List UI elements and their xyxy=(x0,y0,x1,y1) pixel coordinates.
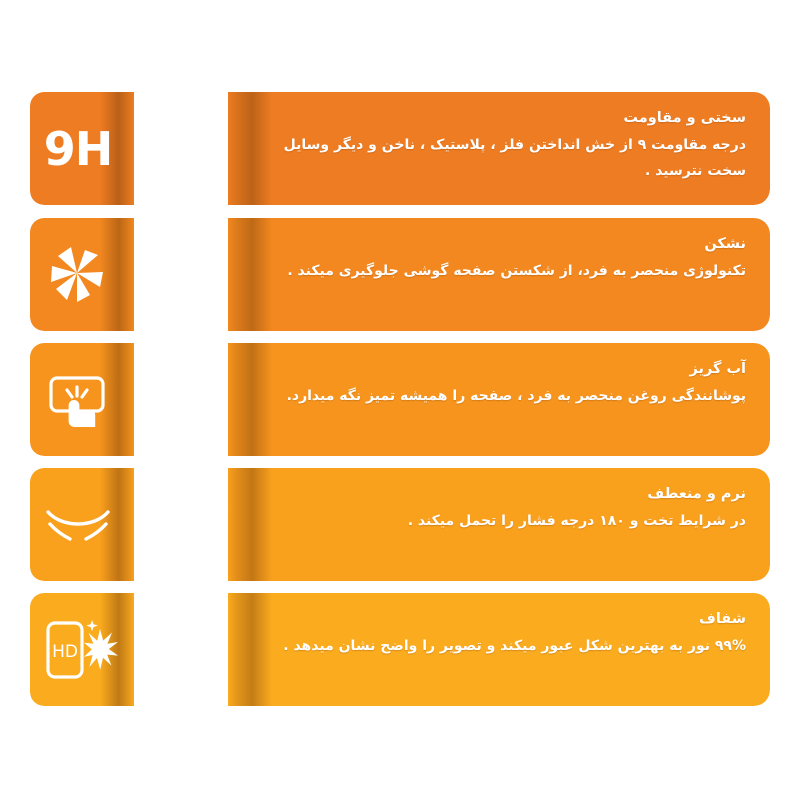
feature-description-water-repellent: پوشانندگی روغن منحصر به فرد ، صفحه را هم… xyxy=(258,384,746,410)
text-panel-body: آب گریز پوشانندگی روغن منحصر به فرد ، صف… xyxy=(228,343,770,456)
touch-screen-hand-icon xyxy=(30,343,134,456)
icon-tile-hardness: 9H xyxy=(30,92,134,205)
text-panel-hardness: سختی و مقاومت درجه مقاومت ۹ از خش انداخت… xyxy=(228,92,770,205)
feature-title-transparent: شفاف xyxy=(258,609,746,631)
9h-hardness-icon: 9H xyxy=(30,92,134,205)
text-panel-body: شفاف ۹۹% نور به بهترین شکل عبور میکند و … xyxy=(228,593,770,706)
feature-row-water-repellent: آب گریز پوشانندگی روغن منحصر به فرد ، صف… xyxy=(0,343,800,456)
text-panel-body: نشکن تکنولوژی منحصر به فرد، از شکستن صفح… xyxy=(228,218,770,331)
feature-row-unbreakable: نشکن تکنولوژی منحصر به فرد، از شکستن صفح… xyxy=(0,218,800,331)
text-panel-body: نرم و منعطف در شرایط تخت و ۱۸۰ درجه فشار… xyxy=(228,468,770,581)
text-panel-body: سختی و مقاومت درجه مقاومت ۹ از خش انداخت… xyxy=(228,92,770,205)
hd-sparkle-icon: HD xyxy=(30,593,134,706)
feature-row-hardness: 9H سختی و مقاومت درجه مقاومت ۹ از خش اند… xyxy=(0,92,800,205)
icon-tile-transparent: HD xyxy=(30,593,134,706)
feature-row-transparent: HD شفاف ۹۹% نور به بهترین شکل عبور میکند… xyxy=(0,593,800,706)
shatter-pinwheel-icon xyxy=(30,218,134,331)
text-panel-transparent: شفاف ۹۹% نور به بهترین شکل عبور میکند و … xyxy=(228,593,770,706)
feature-row-flexible: نرم و منعطف در شرایط تخت و ۱۸۰ درجه فشار… xyxy=(0,468,800,581)
feature-description-flexible: در شرایط تخت و ۱۸۰ درجه فشار را تحمل میک… xyxy=(258,509,746,535)
feature-title-hardness: سختی و مقاومت xyxy=(258,108,746,130)
feature-title-water-repellent: آب گریز xyxy=(258,359,746,381)
screen-protector-feature-poster: 9H سختی و مقاومت درجه مقاومت ۹ از خش اند… xyxy=(0,0,800,800)
hd-label: HD xyxy=(52,642,78,662)
icon-tile-unbreakable xyxy=(30,218,134,331)
feature-description-hardness: درجه مقاومت ۹ از خش انداختن فلز ، پلاستی… xyxy=(258,133,746,185)
icon-tile-flexible xyxy=(30,468,134,581)
feature-description-transparent: ۹۹% نور به بهترین شکل عبور میکند و تصویر… xyxy=(258,634,746,660)
text-panel-flexible: نرم و منعطف در شرایط تخت و ۱۸۰ درجه فشار… xyxy=(228,468,770,581)
flex-curves-icon xyxy=(30,468,134,581)
feature-title-unbreakable: نشکن xyxy=(258,234,746,256)
feature-description-unbreakable: تکنولوژی منحصر به فرد، از شکستن صفحه گوش… xyxy=(258,259,746,285)
9h-hardness-icon-label: 9H xyxy=(44,126,113,172)
text-panel-water-repellent: آب گریز پوشانندگی روغن منحصر به فرد ، صف… xyxy=(228,343,770,456)
text-panel-unbreakable: نشکن تکنولوژی منحصر به فرد، از شکستن صفح… xyxy=(228,218,770,331)
icon-tile-water-repellent xyxy=(30,343,134,456)
feature-title-flexible: نرم و منعطف xyxy=(258,484,746,506)
